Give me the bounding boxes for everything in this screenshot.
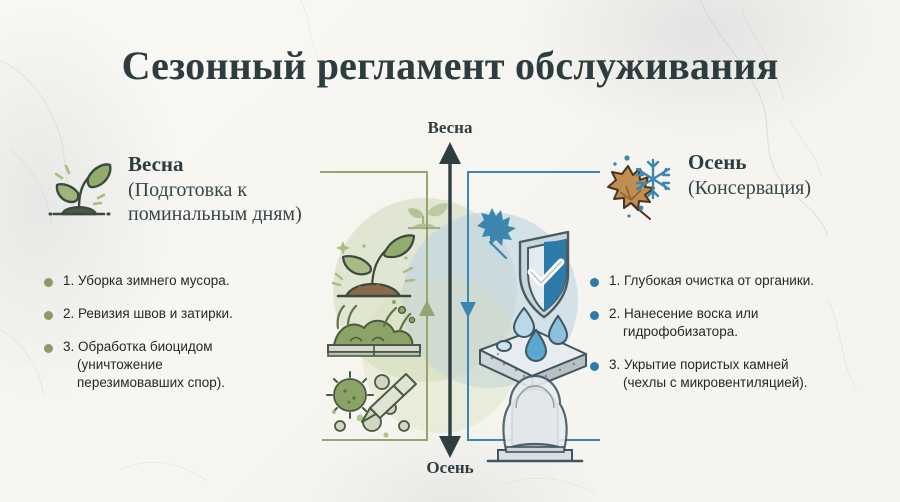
list-item-line: 2. Нанесение воска или bbox=[609, 306, 758, 321]
list-item: 2. Нанесение воска или гидрофобизатора. bbox=[590, 305, 895, 341]
autumn-header: Осень (Консервация) bbox=[598, 150, 898, 229]
list-item: 1. Глубокая очистка от органики. bbox=[590, 272, 895, 290]
list-item: 3. Укрытие пористых камней (чехлы с микр… bbox=[590, 356, 895, 392]
list-item: 3. Обработка биоцидом (уничтожение перез… bbox=[44, 338, 344, 392]
list-item-line: (уничтожение bbox=[63, 356, 225, 374]
autumn-title: Осень bbox=[688, 150, 811, 176]
list-item-line: 1. Уборка зимнего мусора. bbox=[63, 273, 230, 288]
autumn-subtitle-line1: (Консервация) bbox=[688, 176, 811, 200]
autumn-list: 1. Глубокая очистка от органики. 2. Нане… bbox=[590, 272, 895, 407]
list-item-line: перезимовавших спор). bbox=[63, 374, 225, 392]
list-item-line: 2. Ревизия швов и затирки. bbox=[63, 306, 233, 321]
infographic-canvas: Сезонный регламент обслуживания Весна Ос… bbox=[0, 0, 900, 502]
spring-header-text: Весна (Подготовка к поминальным дням) bbox=[128, 152, 302, 226]
list-item-line: 1. Глубокая очистка от органики. bbox=[609, 273, 814, 288]
sprout-icon bbox=[42, 152, 116, 231]
list-item-line: 3. Обработка биоцидом bbox=[63, 339, 213, 354]
autumn-leaf-snowflake-icon bbox=[598, 150, 676, 229]
bullet-dot-icon bbox=[44, 311, 53, 320]
arrow-down-head bbox=[439, 436, 461, 458]
list-item-line: гидрофобизатора. bbox=[609, 323, 758, 341]
list-item-text: 3. Укрытие пористых камней (чехлы с микр… bbox=[609, 356, 808, 392]
arrow-up-head bbox=[439, 142, 461, 164]
spring-subtitle-line2: поминальным дням) bbox=[128, 202, 302, 226]
bullet-dot-icon bbox=[44, 344, 53, 353]
axis-label-top: Весна bbox=[370, 118, 530, 138]
page-title: Сезонный регламент обслуживания bbox=[0, 42, 900, 89]
spring-title: Весна bbox=[128, 152, 302, 178]
spring-list: 1. Уборка зимнего мусора. 2. Ревизия шво… bbox=[44, 272, 344, 407]
season-axis-arrow bbox=[430, 140, 470, 465]
spring-subtitle-line1: (Подготовка к bbox=[128, 178, 302, 202]
list-item-line: 3. Укрытие пористых камней bbox=[609, 357, 789, 372]
list-item: 1. Уборка зимнего мусора. bbox=[44, 272, 344, 290]
autumn-header-text: Осень (Консервация) bbox=[688, 150, 811, 200]
list-item-text: 1. Уборка зимнего мусора. bbox=[63, 272, 230, 290]
list-item-text: 2. Ревизия швов и затирки. bbox=[63, 305, 233, 323]
list-item-text: 3. Обработка биоцидом (уничтожение перез… bbox=[63, 338, 225, 392]
bullet-dot-icon bbox=[44, 278, 53, 287]
list-item: 2. Ревизия швов и затирки. bbox=[44, 305, 344, 323]
list-item-text: 1. Глубокая очистка от органики. bbox=[609, 272, 814, 290]
list-item-line: (чехлы с микровентиляцией). bbox=[609, 374, 808, 392]
list-item-text: 2. Нанесение воска или гидрофобизатора. bbox=[609, 305, 758, 341]
spring-header: Весна (Подготовка к поминальным дням) bbox=[42, 152, 362, 231]
